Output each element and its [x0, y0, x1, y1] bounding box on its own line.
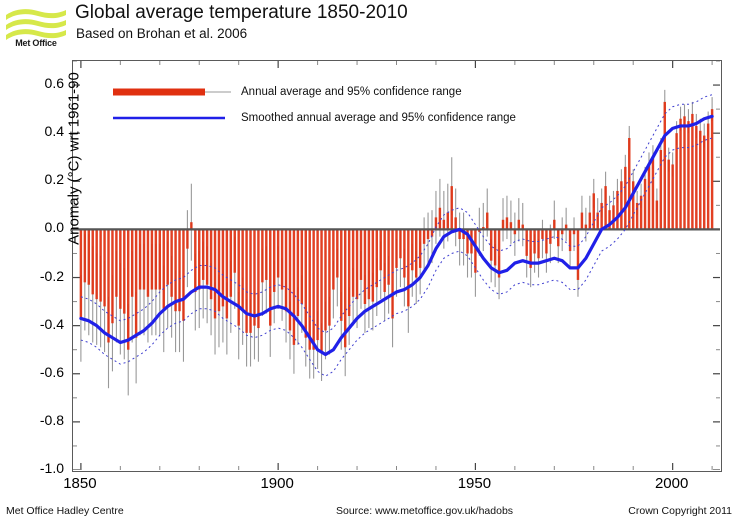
legend-item-annual: Annual average and 95% confidence range — [113, 85, 583, 111]
chart-header: Met Office Global average temperature 18… — [0, 0, 736, 58]
page-title: Global average temperature 1850-2010 — [75, 2, 408, 24]
x-tick-label: 1950 — [439, 475, 509, 492]
x-tick-label: 1850 — [45, 475, 115, 492]
y-tick-label: 0.4 — [12, 123, 64, 139]
y-tick-label: -0.4 — [12, 316, 64, 332]
y-tick-label: 0.0 — [12, 219, 64, 235]
x-tick-label: 1900 — [242, 475, 312, 492]
footer-left-text: Met Office Hadley Centre — [6, 505, 124, 517]
page-subtitle: Based on Brohan et al. 2006 — [76, 26, 247, 42]
legend-item-smoothed: Smoothed annual average and 95% confiden… — [113, 111, 583, 137]
y-axis-title: Anomaly (°C) wrt 1961-90 — [66, 49, 83, 269]
met-office-logo-text: Met Office — [6, 38, 66, 48]
y-tick-label: 0.2 — [12, 171, 64, 187]
y-tick-label: -0.6 — [12, 364, 64, 380]
legend-label-smoothed: Smoothed annual average and 95% confiden… — [241, 112, 516, 124]
legend-marker-annual-icon — [113, 86, 233, 98]
y-tick-label: -0.2 — [12, 268, 64, 284]
legend-label-annual: Annual average and 95% confidence range — [241, 86, 462, 98]
annual-bars — [80, 102, 714, 352]
chart-legend: Annual average and 95% confidence range … — [113, 85, 583, 137]
footer-source-text: Source: www.metoffice.gov.uk/hadobs — [336, 505, 513, 517]
y-tick-label: -0.8 — [12, 412, 64, 428]
y-tick-label: 0.6 — [12, 75, 64, 91]
footer-copyright-text: Crown Copyright 2011 — [628, 505, 732, 517]
chart-footer: Met Office Hadley Centre Source: www.met… — [0, 505, 736, 525]
y-tick-label: -1.0 — [12, 460, 64, 476]
x-tick-label: 2000 — [637, 475, 707, 492]
chart-plot-area: Annual average and 95% confidence range … — [72, 60, 722, 472]
legend-marker-smoothed-icon — [113, 112, 233, 124]
